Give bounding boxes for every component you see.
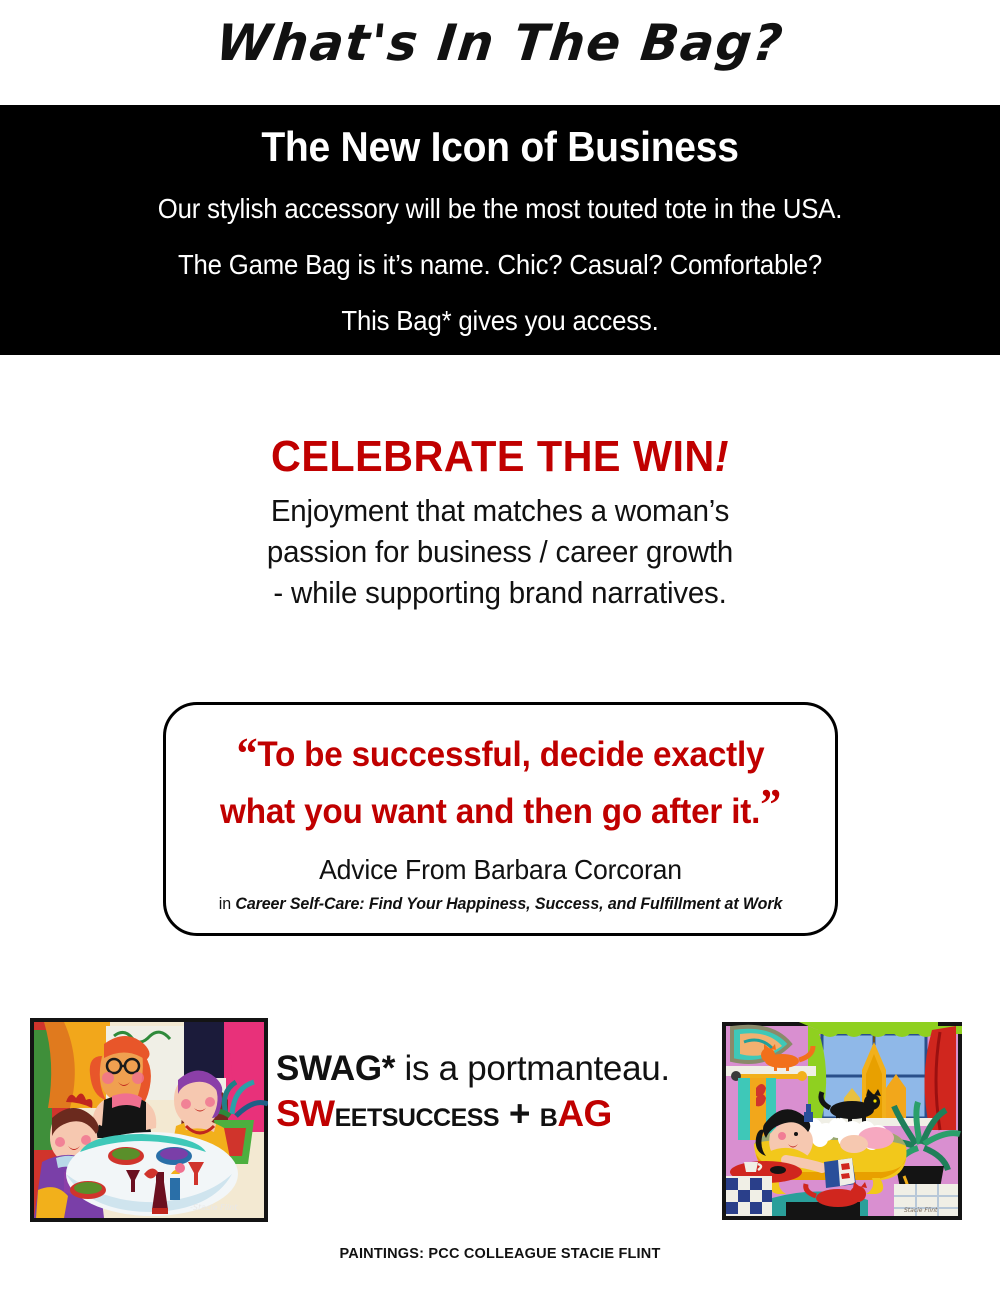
painting-credit: PAINTINGS: PCC COLLEAGUE STACIE FLINT: [0, 1246, 1000, 1262]
celebrate-body: Enjoyment that matches a woman’s passion…: [0, 491, 1000, 614]
quote-line-2: what you want and then go after it.”: [183, 784, 819, 841]
quote-line-1: “To be successful, decide exactly: [183, 727, 819, 784]
quote-callout-box: “To be successful, decide exactly what y…: [163, 702, 838, 936]
swag-definition-block: SWAG* is a portmanteau. SWEETSUCCESS + B…: [276, 1048, 716, 1137]
swag-word: SWAG*: [276, 1049, 395, 1088]
svg-text:-Stacie Flint: -Stacie Flint: [190, 1203, 238, 1212]
painting-left-artwork: -Stacie Flint: [30, 1018, 268, 1222]
celebrate-heading: CELEBRATE THE WIN!: [30, 432, 970, 482]
celebrate-section: CELEBRATE THE WIN! Enjoyment that matche…: [0, 432, 1000, 614]
page-title: What's In The Bag?: [0, 14, 1000, 72]
swag-line-2: SWEETSUCCESS + BAG: [276, 1092, 716, 1136]
svg-text:Stacie Flint: Stacie Flint: [904, 1207, 938, 1214]
three-women-dining-painting: -Stacie Flint: [30, 1018, 268, 1222]
woman-in-bathtub-painting: Stacie Flint: [722, 1022, 962, 1220]
quote-source-title: Career Self-Care: Find Your Happiness, S…: [235, 895, 782, 913]
swag-ag-red: AG: [557, 1093, 612, 1134]
quote-source-prefix: in: [219, 895, 236, 913]
celebrate-heading-text: CELEBRATE THE WIN: [271, 432, 715, 481]
painting-right-artwork: Stacie Flint: [722, 1022, 962, 1220]
banner-subline-1: Our stylish accessory will be the most t…: [40, 195, 960, 223]
celebrate-body-line-2: passion for business / career growth: [25, 532, 975, 573]
banner-subline-2: The Game Bag is it’s name. Chic? Casual?…: [40, 251, 960, 279]
quote-source: in Career Self-Care: Find Your Happiness…: [176, 895, 825, 914]
swag-b-black: B: [540, 1104, 558, 1132]
hero-banner: The New Icon of Business Our stylish acc…: [0, 105, 1000, 355]
celebrate-body-line-1: Enjoyment that matches a woman’s: [25, 491, 975, 532]
swag-sw-red: SW: [276, 1093, 335, 1134]
quote-attribution: Advice From Barbara Corcoran: [183, 854, 819, 886]
celebrate-body-line-3: - while supporting brand narratives.: [25, 573, 975, 614]
close-quote-icon: ”: [760, 780, 781, 829]
banner-headline: The New Icon of Business: [35, 123, 965, 171]
swag-portmanteau-text: is a portmanteau.: [395, 1049, 670, 1088]
celebrate-heading-exclamation: !: [715, 432, 729, 481]
swag-line-1: SWAG* is a portmanteau.: [276, 1048, 716, 1089]
banner-subline-3: This Bag* gives you access.: [40, 307, 960, 335]
quote-text-2: what you want and then go after it.: [220, 792, 760, 831]
swag-eetsuccess: EETSUCCESS: [335, 1104, 499, 1132]
quote-text-1: To be successful, decide exactly: [257, 735, 764, 774]
open-quote-icon: “: [237, 729, 258, 778]
swag-plus-sign: +: [499, 1093, 540, 1134]
